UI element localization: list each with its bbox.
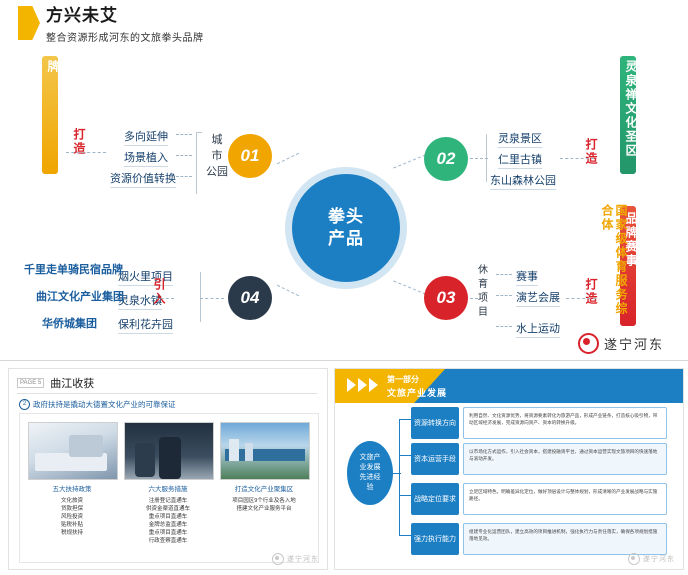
node-01-rail — [196, 132, 197, 194]
bl-card-2-image — [220, 422, 310, 480]
node-02: 02 — [424, 137, 468, 181]
br-center-l1: 文旅产 — [360, 454, 381, 461]
bl-card-2-body: 项目园区9个行业及各入地 搭建文化产业服务平台 — [220, 497, 308, 513]
br-spine-to-center — [393, 473, 401, 474]
connector-hub-04 — [277, 285, 299, 296]
node-01-rail-top — [196, 132, 202, 133]
br-row-3-text: 组建专业化运营团队，建立高效的项目推进机制，强化执行力与责任落实，确保各项规划措… — [463, 523, 667, 555]
bl-title: 曲江收获 — [50, 375, 94, 391]
bl-card-0: 五大扶持政策 文化旅资 贷款担保 风险投资 贴税补贴 税规扶持 — [28, 422, 116, 537]
node-01-target-l1: 城 — [204, 132, 230, 148]
bl-brand-circle-icon — [272, 553, 284, 565]
brand-circle-icon — [578, 333, 599, 354]
node-01-verb: 打造 — [72, 128, 86, 162]
node-03-item-1: 演艺会展 — [516, 289, 560, 307]
node-01-verb-line — [66, 152, 106, 153]
br-center-l3: 先进经 — [360, 474, 381, 481]
node-03-link — [470, 298, 478, 299]
node-04-partner-0: 千里走单骑民宿品牌 — [24, 262, 123, 278]
br-header-line2: 文旅产业发展 — [387, 386, 447, 399]
br-header-arrows-icon — [347, 378, 378, 392]
node-01-target-l2: 市 — [204, 148, 230, 164]
node-04-rail — [200, 272, 201, 322]
br-row-0-text: 利用自然、文化资源优势，将资源要素转化为旅游产品，形成产业链条，打造核心吸引物，… — [463, 407, 667, 439]
br-center-l4: 验 — [367, 484, 374, 491]
node-04: 04 — [228, 276, 272, 320]
node-01-item-1: 场景植入 — [124, 149, 168, 167]
diagram-canvas: 旅游度假休闲品牌 灵泉禅文化圣区 品牌赛事 国家级体育服务综合体 拳头 产品 0… — [0, 46, 688, 346]
node-02-item-2: 东山森林公园 — [490, 172, 556, 190]
right-band-green-label: 灵泉禅文化圣区 — [624, 60, 638, 170]
bl-brand-text: 遂宁河东 — [287, 554, 319, 564]
node-01-item-0: 多向延伸 — [124, 128, 168, 146]
node-01-arrow-2 — [176, 176, 192, 177]
screenshot-root: 方兴未艾 整合资源形成河东的文旅拳头品牌 旅游度假休闲品牌 灵泉禅文化圣区 品牌… — [0, 0, 688, 575]
bl-card-2: 打造文化产业聚集区 项目园区9个行业及各入地 搭建文化产业服务平台 — [220, 422, 308, 513]
bl-card-1-caption: 六大服务措施 — [124, 483, 212, 493]
page-subtitle: 整合资源形成河东的文旅拳头品牌 — [46, 29, 204, 44]
connector-hub-01 — [277, 153, 299, 164]
node-03-item-0: 赛事 — [516, 268, 538, 286]
br-row-2-tag: 战略定位要求 — [411, 483, 459, 515]
br-branch-2 — [399, 495, 411, 496]
right-band-outer-label: 国家级体育服务综合体 — [600, 204, 628, 328]
node-01: 01 — [228, 134, 272, 178]
node-02-verb-line — [560, 158, 594, 159]
br-center-node: 文旅产 业发展 先进经 验 — [347, 441, 393, 505]
node-01-target-l3: 公园 — [204, 164, 230, 180]
bl-card-1: 六大服务措施 注册登记直通车 供资金渠道直通车 重点项目直通车 金牌总监直通车 … — [124, 422, 212, 545]
bl-section: 2 政府扶持是撬动大德置文化产业的可靠保证 — [19, 399, 176, 410]
bottom-right-slide: 第一部分 文旅产业发展 文旅产 业发展 先进经 验 资源转换方向 利用自然、文化… — [334, 368, 684, 570]
node-02-item-0: 灵泉景区 — [498, 130, 542, 148]
node-03-arrow-0 — [496, 274, 512, 275]
node-04-item-2: 保利花卉园 — [118, 316, 173, 334]
hub-label-line1: 拳头 — [328, 207, 364, 226]
bl-card-0-body: 文化旅资 贷款担保 风险投资 贴税补贴 税规扶持 — [28, 497, 116, 537]
br-brand-text: 遂宁河东 — [643, 554, 675, 564]
br-row-2-text: 立足区域特色，明确差异化定位，做好顶层设计与整体规划，形成清晰的产业发展战略与实… — [463, 483, 667, 515]
node-01-item-2: 资源价值转换 — [110, 170, 176, 188]
node-01-arrow-0 — [176, 134, 192, 135]
chevron-accent-icon — [18, 6, 40, 40]
page-title: 方兴未艾 — [46, 6, 204, 26]
left-band-label: 旅游度假休闲品牌 — [46, 60, 74, 170]
node-03-label-l1: 休 — [476, 264, 490, 278]
br-row-1-text: 以市场化方式运作，引入社会资本，搭建投融资平台，通过资本运营实现文旅项目的快速落… — [463, 443, 667, 475]
node-03-label-l3: 项 — [476, 292, 490, 306]
bl-card-0-image — [28, 422, 118, 480]
node-02-verb: 打造 — [584, 138, 598, 172]
brand-text: 遂宁河东 — [604, 334, 664, 353]
node-03-arrow-1 — [496, 295, 512, 296]
br-branch-1 — [399, 455, 411, 456]
node-01-arrow-1 — [176, 155, 192, 156]
br-brand-circle-icon — [628, 553, 640, 565]
bl-watermark: 遂宁河东 — [272, 553, 319, 565]
br-branch-3 — [399, 535, 411, 536]
top-slide-watermark: 遂宁河东 — [578, 333, 664, 354]
br-spine — [399, 419, 400, 535]
bl-card-2-caption: 打造文化产业聚集区 — [220, 483, 308, 493]
bl-page-label: PAGE 5 — [17, 378, 44, 388]
bl-card-0-caption: 五大扶持政策 — [28, 483, 116, 493]
br-row-0-tag: 资源转换方向 — [411, 407, 459, 439]
node-03-arrow-2 — [496, 326, 512, 327]
bl-section-title: 政府扶持是撬动大德置文化产业的可靠保证 — [33, 399, 176, 410]
node-01-target: 城 市 公园 — [204, 132, 230, 180]
bl-content-panel: 五大扶持政策 文化旅资 贷款担保 风险投资 贴税补贴 税规扶持 六大服务措施 注… — [19, 413, 319, 563]
br-row-3-tag: 强力执行能力 — [411, 523, 459, 555]
node-03-verb: 打造 — [584, 278, 598, 312]
top-slide: 方兴未艾 整合资源形成河东的文旅拳头品牌 旅游度假休闲品牌 灵泉禅文化圣区 品牌… — [0, 0, 688, 360]
bottom-left-slide: PAGE 5 曲江收获 2 政府扶持是撬动大德置文化产业的可靠保证 五大扶持政策… — [8, 368, 328, 570]
bl-header: PAGE 5 曲江收获 — [17, 375, 94, 391]
bl-card-1-body: 注册登记直通车 供资金渠道直通车 重点项目直通车 金牌总监直通车 重点项目直通车… — [124, 497, 212, 545]
hub-node: 拳头 产品 — [292, 174, 400, 282]
br-center-l2: 业发展 — [360, 464, 381, 471]
node-04-partner-2: 华侨城集团 — [42, 316, 97, 332]
bl-section-number: 2 — [19, 399, 30, 410]
node-03: 03 — [424, 276, 468, 320]
node-03-verb-line — [566, 298, 596, 299]
bl-title-rule — [17, 393, 317, 394]
node-04-verb: 引入 — [152, 278, 166, 312]
node-03-label: 休 育 项 目 — [476, 264, 490, 320]
hub-label-line2: 产品 — [328, 229, 364, 248]
node-02-link — [470, 158, 488, 159]
bl-card-1-image — [124, 422, 214, 480]
node-04-link — [200, 298, 224, 299]
node-03-label-l4: 目 — [476, 306, 490, 320]
br-row-1-tag: 资本运营手段 — [411, 443, 459, 475]
top-slide-title-bar: 方兴未艾 整合资源形成河东的文旅拳头品牌 — [18, 6, 204, 44]
br-watermark: 遂宁河东 — [628, 553, 675, 565]
node-03-label-l2: 育 — [476, 278, 490, 292]
node-04-verb-line — [140, 298, 174, 299]
slide-divider — [0, 360, 688, 361]
br-header-line1: 第一部分 — [387, 374, 419, 385]
node-03-item-2: 水上运动 — [516, 320, 560, 338]
node-04-partner-1: 曲江文化产业集团 — [36, 289, 124, 305]
br-branch-0 — [399, 419, 411, 420]
node-02-item-1: 仁里古镇 — [498, 151, 542, 169]
